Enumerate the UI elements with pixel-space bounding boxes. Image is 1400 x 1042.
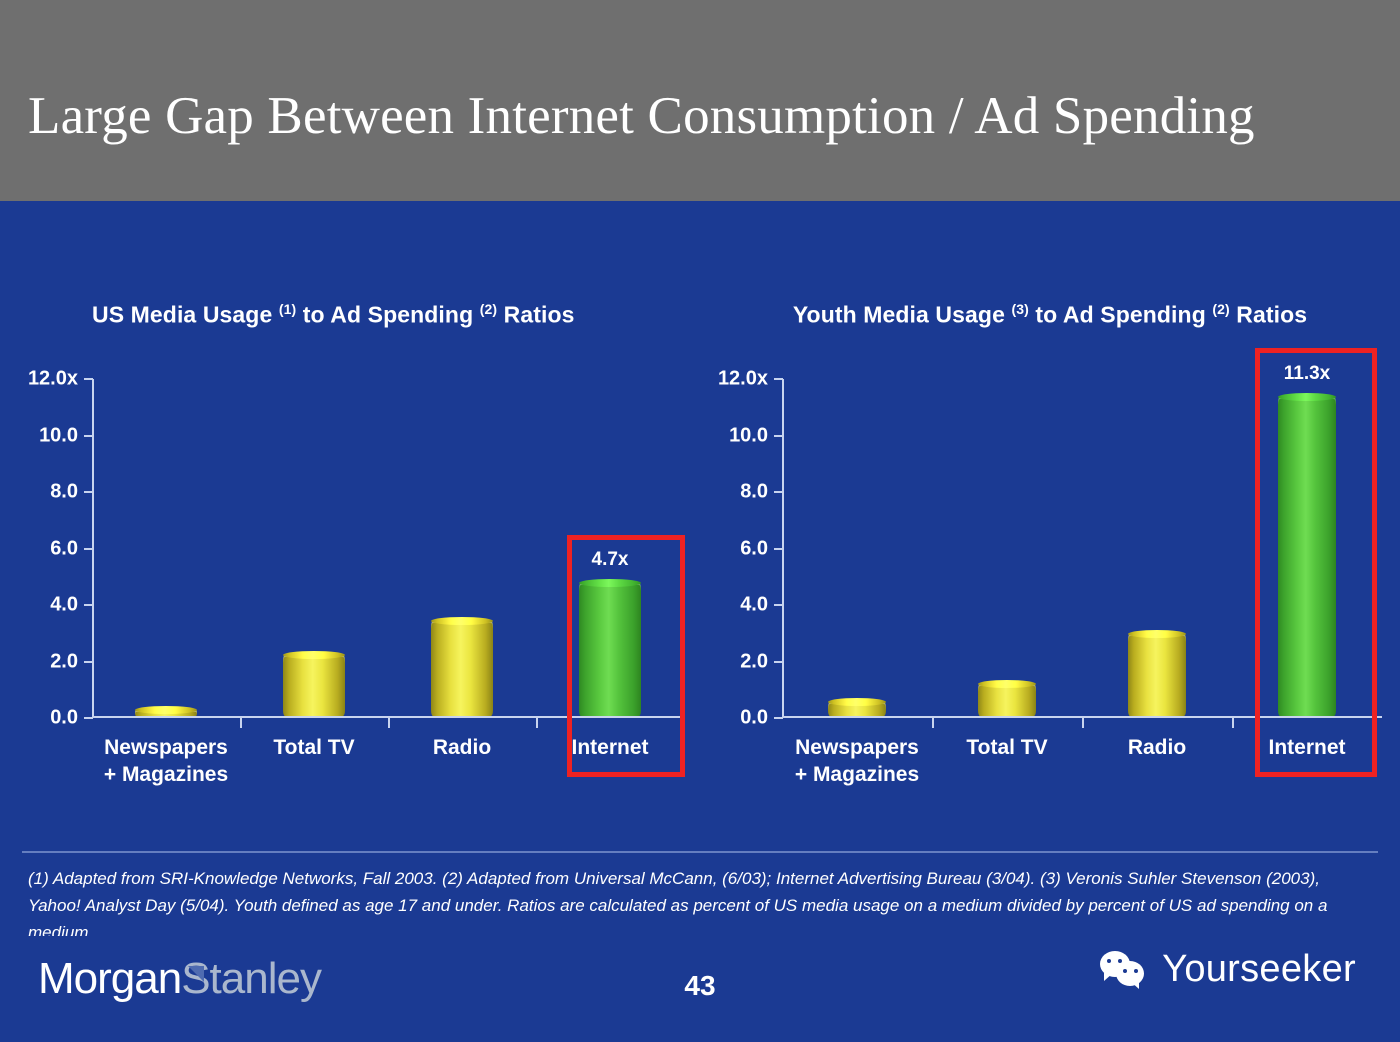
bar-value-label: 4.7x — [592, 549, 629, 571]
x-tick — [1232, 717, 1234, 728]
bar-cap — [283, 651, 345, 659]
category-label-line: Newspapers — [795, 734, 919, 761]
y-tick — [84, 491, 93, 493]
y-axis-label: 12.0x — [28, 368, 78, 391]
category-label-line: Radio — [1128, 734, 1186, 761]
y-tick — [84, 378, 93, 380]
chart-title-right-part2: to Ad Spending — [1029, 302, 1212, 328]
footnote-divider — [22, 851, 1378, 853]
chart-title-left-part3: Ratios — [497, 302, 574, 328]
chart-title-right-part3: Ratios — [1230, 302, 1307, 328]
y-axis-label: 6.0 — [740, 537, 768, 560]
bar-total-tv — [978, 684, 1036, 716]
slide-footer: MorganStanley 43 Yourseeker — [0, 936, 1400, 1042]
footnote-ref-2b: (2) — [1212, 301, 1229, 317]
bar-cap — [828, 698, 886, 706]
bar-newspapers-magazines — [135, 710, 197, 716]
chart-title-left-part2: to Ad Spending — [296, 302, 479, 328]
bar-newspapers-magazines — [828, 702, 886, 716]
y-tick — [774, 491, 783, 493]
y-axis-label: 8.0 — [740, 481, 768, 504]
bar-cap — [135, 706, 197, 714]
y-tick — [774, 378, 783, 380]
category-label-line: Internet — [571, 734, 648, 761]
y-tick — [774, 661, 783, 663]
bar-radio — [431, 621, 493, 716]
category-label-line: Total TV — [966, 734, 1047, 761]
bar-cap — [1278, 393, 1336, 401]
x-tick — [932, 717, 934, 728]
x-axis-category-label: Total TV — [273, 734, 354, 761]
bar-cap — [431, 617, 493, 625]
chart-title-right: Youth Media Usage (3) to Ad Spending (2)… — [720, 291, 1380, 333]
x-axis-category-label: Newspapers+ Magazines — [104, 734, 228, 788]
bar-radio — [1128, 634, 1186, 716]
y-tick — [774, 604, 783, 606]
y-axis-label: 10.0 — [39, 424, 78, 447]
y-axis-label: 12.0x — [718, 368, 768, 391]
y-axis-label: 2.0 — [740, 650, 768, 673]
yourseeker-label: Yourseeker — [1162, 948, 1356, 991]
bar-total-tv — [283, 655, 345, 716]
bar-value-label: 11.3x — [1284, 363, 1331, 385]
category-label-line: + Magazines — [795, 761, 919, 788]
y-tick — [84, 661, 93, 663]
slide-body: US Media Usage (1) to Ad Spending (2) Ra… — [0, 201, 1400, 936]
wechat-icon — [1100, 949, 1150, 991]
y-axis-label: 4.0 — [50, 594, 78, 617]
x-axis-category-label: Radio — [1128, 734, 1186, 761]
bar-cap — [1128, 630, 1186, 638]
page-title: Large Gap Between Internet Consumption /… — [28, 86, 1255, 146]
y-tick — [84, 548, 93, 550]
bar-cap — [579, 579, 641, 587]
category-label-line: Internet — [1268, 734, 1345, 761]
footnote-ref-1: (1) — [279, 301, 296, 317]
bar-internet — [1278, 397, 1336, 716]
slide-root: Large Gap Between Internet Consumption /… — [0, 0, 1400, 1042]
y-tick — [84, 604, 93, 606]
y-axis-label: 0.0 — [50, 707, 78, 730]
yourseeker-watermark: Yourseeker — [1100, 948, 1356, 991]
chart-title-left: US Media Usage (1) to Ad Spending (2) Ra… — [92, 291, 692, 333]
slide-header-band: Large Gap Between Internet Consumption /… — [0, 0, 1400, 201]
footnote-ref-3: (3) — [1011, 301, 1028, 317]
x-axis-category-label: Internet — [571, 734, 648, 761]
chart-panel-us-media: US Media Usage (1) to Ad Spending (2) Ra… — [0, 201, 700, 936]
y-axis-label: 2.0 — [50, 650, 78, 673]
plot-area-right: 0.02.04.06.08.010.012.0x 11.3x Newspaper… — [782, 379, 1382, 718]
y-tick — [774, 435, 783, 437]
footnote-ref-2: (2) — [480, 301, 497, 317]
y-tick — [84, 435, 93, 437]
bar-internet — [579, 583, 641, 716]
chart-title-right-part1: Youth Media Usage — [793, 302, 1012, 328]
category-label-line: + Magazines — [104, 761, 228, 788]
plot-area-left: 0.02.04.06.08.010.012.0x 4.7x Newspapers… — [92, 379, 684, 718]
bar-cap — [978, 680, 1036, 688]
y-axis-label: 4.0 — [740, 594, 768, 617]
category-label-line: Radio — [433, 734, 491, 761]
y-axis-label: 8.0 — [50, 481, 78, 504]
chart-panel-youth-media: Youth Media Usage (3) to Ad Spending (2)… — [700, 201, 1400, 936]
x-axis-category-label: Total TV — [966, 734, 1047, 761]
x-tick — [388, 717, 390, 728]
x-tick — [240, 717, 242, 728]
x-axis-category-label: Newspapers+ Magazines — [795, 734, 919, 788]
x-tick — [536, 717, 538, 728]
category-label-line: Total TV — [273, 734, 354, 761]
y-axis-label: 0.0 — [740, 707, 768, 730]
footnote-text: (1) Adapted from SRI-Knowledge Networks,… — [28, 865, 1358, 946]
x-tick — [1082, 717, 1084, 728]
x-axis-category-label: Radio — [433, 734, 491, 761]
x-axis-category-label: Internet — [1268, 734, 1345, 761]
category-label-line: Newspapers — [104, 734, 228, 761]
y-tick — [774, 717, 783, 719]
y-axis-label: 10.0 — [729, 424, 768, 447]
y-tick — [84, 717, 93, 719]
y-tick — [774, 548, 783, 550]
chart-title-left-part1: US Media Usage — [92, 302, 279, 328]
y-axis-label: 6.0 — [50, 537, 78, 560]
